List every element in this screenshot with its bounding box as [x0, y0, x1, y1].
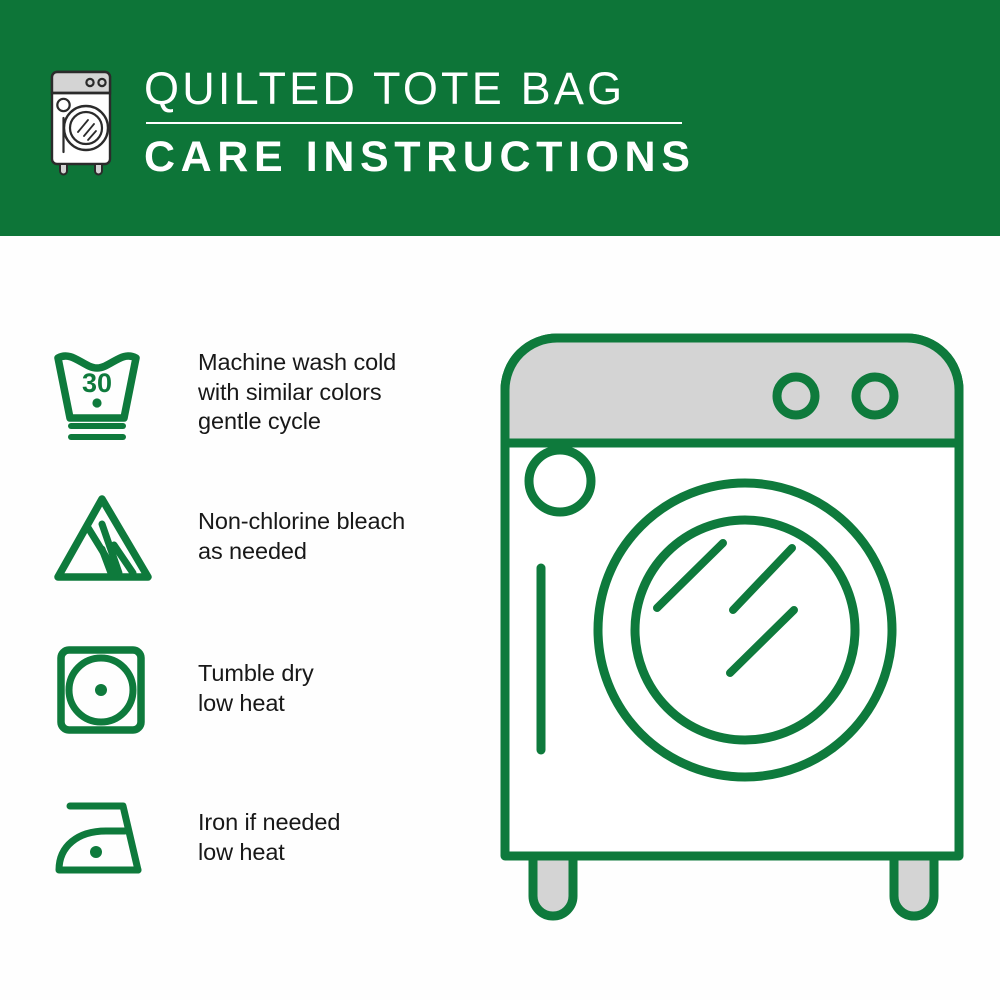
header-titles: QUILTED TOTE BAG CARE INSTRUCTIONS: [144, 62, 844, 182]
page-title: QUILTED TOTE BAG: [144, 62, 844, 116]
care-item-text: Non-chlorine bleach as needed: [198, 507, 405, 566]
care-instruction-list: 30 Machine wash cold with similar colors…: [0, 236, 480, 1000]
iron-icon: [50, 794, 160, 884]
washing-machine-logo-icon: [46, 66, 118, 176]
care-text-line: Machine wash cold: [198, 348, 396, 378]
care-item-machine-wash: 30 Machine wash cold with similar colors…: [50, 346, 480, 446]
care-text-line: low heat: [198, 838, 340, 868]
tumble-dry-icon: [50, 641, 160, 736]
care-text-line: gentle cycle: [198, 407, 396, 437]
care-text-line: Iron if needed: [198, 808, 340, 838]
care-item-text: Tumble dry low heat: [198, 659, 314, 718]
machine-leg: [533, 856, 573, 916]
care-item-bleach: Non-chlorine bleach as needed: [50, 491, 480, 586]
care-item-text: Machine wash cold with similar colors ge…: [198, 348, 396, 437]
machine-leg: [894, 856, 934, 916]
care-text-line: Non-chlorine bleach: [198, 507, 405, 537]
page-subtitle: CARE INSTRUCTIONS: [144, 132, 844, 182]
bleach-triangle-icon: [50, 491, 160, 586]
wash-temp-label: 30: [82, 368, 112, 398]
care-instructions-poster: QUILTED TOTE BAG CARE INSTRUCTIONS 30: [0, 0, 1000, 1000]
header-band: QUILTED TOTE BAG CARE INSTRUCTIONS: [0, 0, 1000, 236]
care-text-line: Tumble dry: [198, 659, 314, 689]
washing-machine-illustration: [497, 330, 967, 930]
care-item-iron: Iron if needed low heat: [50, 794, 480, 884]
care-text-line: as needed: [198, 537, 405, 567]
title-divider: [146, 122, 682, 124]
wash-tub-30-icon: 30: [50, 346, 160, 446]
care-text-line: with similar colors: [198, 378, 396, 408]
care-item-tumble-dry: Tumble dry low heat: [50, 641, 480, 736]
care-text-line: low heat: [198, 689, 314, 719]
care-item-text: Iron if needed low heat: [198, 808, 340, 867]
